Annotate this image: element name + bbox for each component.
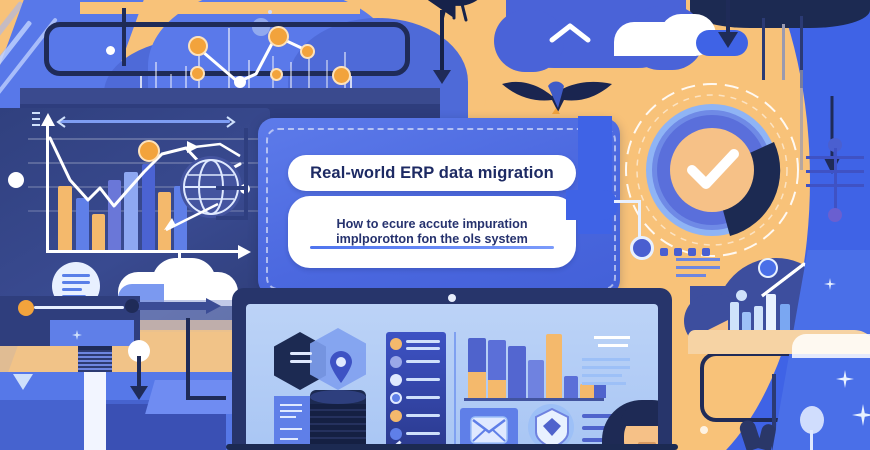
doc-line: [280, 416, 296, 418]
checklist-text: [406, 396, 440, 399]
doc-line: [280, 410, 302, 412]
connector-line: [638, 200, 641, 240]
checklist-text: [406, 378, 440, 381]
dot-marker: [688, 248, 696, 256]
checklist-bullet[interactable]: [390, 410, 402, 422]
star-dot: [268, 10, 272, 14]
chevron-left-icon: [56, 116, 68, 128]
slider-rung: [806, 170, 864, 173]
bar: [564, 376, 578, 398]
blue-tab: [566, 190, 618, 220]
subtitle-line-1: How to ecure accute impuration: [336, 217, 527, 232]
bird-icon: [500, 68, 614, 116]
laptop-screen: [246, 304, 658, 450]
bar-base: [468, 372, 486, 398]
doc-line: [280, 404, 302, 406]
node-dot: [736, 290, 747, 301]
text-line: [582, 358, 630, 361]
envelope-icon[interactable]: [470, 416, 508, 444]
bar: [546, 334, 562, 398]
node-dot-orange: [332, 66, 351, 85]
node-dot-orange: [188, 36, 208, 56]
node-dot-orange: [190, 66, 205, 81]
white-divider: [84, 372, 106, 450]
node-dot-orange: [18, 300, 34, 316]
text-line: [582, 366, 630, 369]
node-dot-orange: [268, 26, 289, 47]
divider: [454, 332, 456, 450]
tick: [32, 124, 40, 126]
node-dot-orange: [300, 44, 315, 59]
text-line: [582, 382, 626, 385]
text-line: [582, 374, 622, 377]
node-dot-orange: [270, 68, 283, 81]
connector-line: [34, 306, 124, 309]
dot-marker: [660, 248, 668, 256]
checklist-bullet[interactable]: [390, 392, 402, 404]
bar: [508, 346, 526, 398]
doc-line: [280, 428, 302, 430]
bar-base: [488, 380, 506, 398]
highlight-dot: [138, 140, 160, 162]
page-title: Real-world ERP data migration: [310, 164, 554, 183]
location-pin-icon: [328, 350, 354, 384]
triangle-icon: [12, 372, 34, 392]
subtitle-underline: [310, 246, 554, 249]
cloud-upload-icon: [548, 22, 592, 44]
arrow-down-icon: [128, 356, 150, 402]
subtitle-pill: How to ecure accute impuration implporot…: [288, 196, 576, 268]
arrow-down-icon: [716, 0, 740, 50]
dark-band-light: [20, 88, 440, 104]
doc-line: [62, 288, 82, 291]
white-cloud: [792, 334, 870, 358]
blue-block: [50, 320, 134, 346]
arrow-right-icon: [122, 296, 222, 316]
arrow-up-icon: [40, 112, 56, 128]
doc-line: [62, 281, 90, 284]
checklist-text: [406, 432, 440, 435]
checklist-bullet[interactable]: [390, 356, 402, 368]
checklist-text: [406, 347, 440, 350]
checklist-bullet[interactable]: [390, 338, 402, 350]
connector-line: [216, 186, 248, 190]
node-dot: [758, 258, 778, 278]
laptop-camera: [448, 294, 456, 302]
vertical-line: [800, 70, 803, 170]
title-pill: Real-world ERP data migration: [288, 155, 576, 191]
frame-line: [122, 8, 126, 66]
pointer-line: [162, 200, 222, 234]
checklist-text: [406, 340, 440, 343]
text-line: [594, 336, 630, 339]
x-axis: [46, 250, 242, 253]
connector-line: [216, 216, 248, 220]
database-top: [310, 390, 366, 404]
dot-marker: [702, 248, 710, 256]
crow-icon: [418, 0, 490, 28]
laptop-base: [226, 444, 678, 450]
connector-line: [186, 396, 226, 400]
bar: [528, 360, 544, 398]
vertical-line: [782, 24, 785, 80]
arrow-right-icon: [184, 140, 200, 154]
node-dot: [234, 76, 246, 88]
dot-marker: [674, 248, 682, 256]
checklist-text: [406, 360, 440, 363]
chart-baseline: [464, 398, 604, 401]
doc-line: [280, 438, 298, 440]
hex-line: [290, 352, 312, 355]
connector-line: [186, 318, 190, 400]
slider-rung: [806, 156, 864, 159]
plant-stem: [810, 430, 813, 450]
checklist-bullet[interactable]: [390, 428, 402, 440]
dot-marker: [700, 426, 708, 434]
node-dot: [630, 236, 654, 260]
subtitle-line-2: implporotton fon the ols system: [336, 232, 528, 247]
bar: [580, 384, 594, 398]
slider-rung: [806, 184, 864, 187]
vertical-line: [762, 18, 765, 80]
node-dot: [8, 172, 24, 188]
slider-handle[interactable]: [828, 208, 842, 222]
panel-rule: [60, 120, 230, 123]
doc-line: [62, 274, 90, 277]
text-line: [676, 258, 720, 261]
gauge-rings: [622, 80, 802, 260]
crow-pole: [440, 10, 444, 72]
connector-line: [244, 128, 248, 220]
arrow-down-icon: [432, 66, 452, 86]
arrow-down-icon: [820, 96, 844, 176]
chevron-right-icon: [224, 116, 236, 128]
tick: [32, 118, 40, 120]
text-line: [676, 266, 720, 269]
hex-line: [290, 360, 312, 363]
text-line: [676, 274, 706, 277]
checklist-bullet[interactable]: [390, 374, 402, 386]
illustration-canvas: Real-world ERP data migration How to ecu…: [0, 0, 870, 450]
arrow-right-icon: [236, 244, 252, 260]
tick: [32, 112, 40, 114]
connector-line: [614, 200, 640, 203]
text-line: [598, 344, 628, 347]
checklist-text: [406, 414, 440, 417]
